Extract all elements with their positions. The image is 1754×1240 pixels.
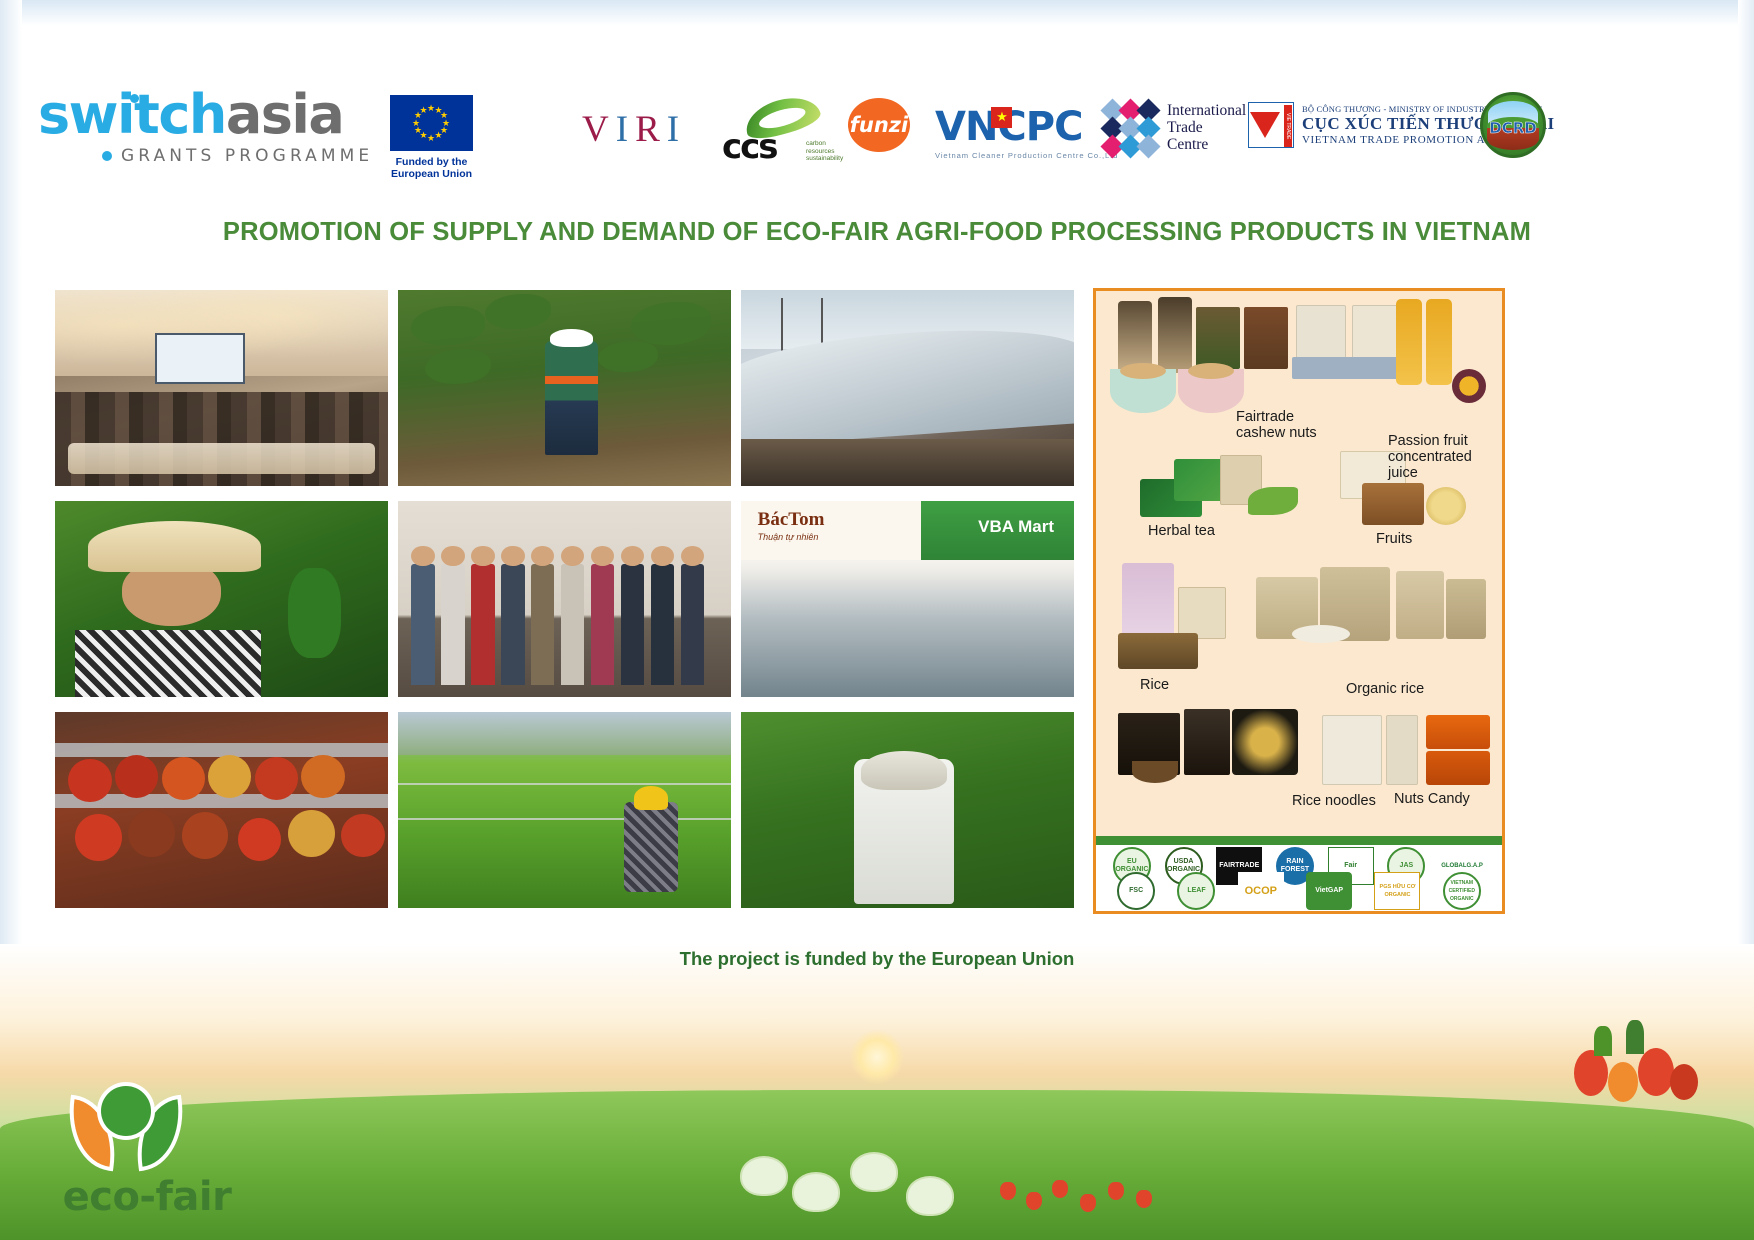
tomato-shape <box>75 814 122 861</box>
nuts-candy-pack <box>1322 715 1382 785</box>
label-nuts-candy: Nuts Candy <box>1394 791 1470 807</box>
label-line1: Organic rice <box>1346 681 1424 697</box>
delegate-head <box>621 546 644 567</box>
itc-line1: International <box>1167 102 1246 119</box>
store-tagline-text: Thuận tự nhiên <box>758 532 819 542</box>
photo-conference-hall <box>55 290 388 486</box>
strawberry-icon <box>1000 1182 1016 1200</box>
certification-row-1: EU ORGANIC USDA ORGANIC FAIRTRADE RAIN F… <box>1106 853 1492 878</box>
cashew-pack-image <box>1196 307 1240 369</box>
cert-ocop: OCOP <box>1238 872 1284 910</box>
noodle-bowl-image <box>1132 761 1178 783</box>
cabbage-icon <box>792 1172 840 1212</box>
tomato-shape <box>238 818 281 861</box>
eu-star-icon: ★ <box>420 106 428 115</box>
tomato-shape <box>208 755 251 798</box>
label-line1: Nuts Candy <box>1394 791 1470 807</box>
tomato-shape <box>341 814 384 857</box>
delegate-shape <box>591 564 614 686</box>
delegate-head <box>411 546 434 567</box>
store-glass-facade <box>741 560 1074 697</box>
leaf-shape <box>485 294 552 329</box>
conveyor-rail-shape <box>55 743 388 757</box>
sun-icon <box>850 1030 904 1084</box>
product-shelf-shadow <box>1292 357 1412 379</box>
delegate-shape <box>651 564 674 686</box>
tomato-shape <box>68 759 111 802</box>
sun-hat-shape <box>861 751 948 790</box>
farmer-body-shape <box>75 630 261 697</box>
cabbage-icon <box>850 1152 898 1192</box>
viri-logo: VIRI <box>582 108 686 151</box>
product-showcase-panel: Fairtrade cashew nuts Passion fruit conc… <box>1093 288 1505 914</box>
vncpc-text-wrap: VNCPC ★ <box>935 104 1118 150</box>
tomato-shape <box>301 755 344 798</box>
cashew-jar-image <box>1158 297 1192 373</box>
photo-tomato-crate <box>55 712 388 908</box>
rice-pack-image <box>1178 587 1226 639</box>
label-line1: Rice <box>1140 677 1169 693</box>
switchasia-word-c: asia <box>226 83 344 146</box>
label-line1: Herbal tea <box>1148 523 1215 539</box>
passion-juice-bottle <box>1396 299 1422 385</box>
label-line1: Rice noodles <box>1292 793 1376 809</box>
eu-caption-line1: Funded by the <box>390 156 473 168</box>
tomato-icon <box>1574 1050 1608 1096</box>
eu-caption: Funded by the European Union <box>390 156 473 180</box>
itc-diamond-cell <box>1136 134 1160 158</box>
rice-field-sky-shape <box>398 712 731 755</box>
strawberry-icon <box>1108 1182 1124 1200</box>
white-helmet-shape <box>550 329 593 347</box>
tomato-icon <box>1638 1048 1674 1096</box>
switchasia-subtitle: GRANTS PROGRAMME <box>121 146 373 166</box>
dcrd-text: DCRD <box>1483 119 1543 137</box>
viri-letter-2: I <box>616 109 635 150</box>
delegate-shape <box>411 564 434 686</box>
label-passion-fruit-juice: Passion fruit concentrated juice <box>1388 433 1502 481</box>
photo-cucumber-greenhouse <box>741 712 1074 908</box>
dcrd-logo: DCRD <box>1480 92 1546 158</box>
cashew-nuts-heap <box>1120 363 1166 379</box>
funzi-text: funzi <box>850 113 908 137</box>
funzi-logo: funzi <box>848 98 910 152</box>
eu-funding-logo: ★★★★★★★★★★★★ Funded by the European Unio… <box>390 95 473 180</box>
delegate-shape <box>441 564 464 686</box>
delegate-shape <box>621 564 644 686</box>
hb-candy-box <box>1426 715 1490 749</box>
label-organic-rice: Organic rice <box>1346 681 1424 697</box>
measuring-line-shape <box>398 818 731 820</box>
tomato-shape <box>255 757 298 800</box>
label-line2: cashew nuts <box>1236 425 1317 441</box>
vietnam-flag-icon: ★ <box>991 107 1012 128</box>
cashew-nuts-heap <box>1188 363 1234 379</box>
delegate-head <box>471 546 494 567</box>
eu-star-icon: ★ <box>427 134 435 143</box>
orchard-worker-stripe <box>545 376 598 384</box>
panel-divider <box>1096 836 1502 845</box>
conference-tables-shape <box>68 443 374 474</box>
delegate-shape <box>561 564 584 686</box>
delegate-head <box>561 546 584 567</box>
photo-bactom-store: BácTom Thuận tự nhiên VBA Mart <box>741 501 1074 697</box>
switchasia-subtitle-row: GRANTS PROGRAMME <box>102 146 373 166</box>
store-brand-text: BácTom <box>758 509 825 531</box>
tomato-shape <box>288 810 335 857</box>
nuts-candy-pack <box>1386 715 1418 785</box>
passion-fruit-image <box>1452 369 1486 403</box>
vncpc-logo: VNCPC ★ Vietnam Cleaner Production Centr… <box>935 104 1118 160</box>
eco-fair-mark-icon <box>70 1086 182 1172</box>
label-herbal-tea: Herbal tea <box>1148 523 1215 539</box>
yellow-hard-hat-shape <box>634 786 667 810</box>
delegate-shape <box>531 564 554 686</box>
cashew-pack-image <box>1244 307 1288 369</box>
funding-statement: The project is funded by the European Un… <box>0 948 1754 970</box>
measuring-line-shape <box>398 783 731 785</box>
leaf-icon <box>1626 1020 1644 1054</box>
rice-paper-badge <box>1232 709 1298 775</box>
cert-vietnam-certified-organic: VIETNAM CERTIFIED ORGANIC <box>1443 872 1481 910</box>
switchasia-logo: switchasia GRANTS PROGRAMME <box>38 88 373 166</box>
itc-line3: Centre <box>1167 136 1246 153</box>
melon-image <box>1426 487 1466 525</box>
leaf-shape <box>598 341 658 372</box>
eu-star-icon: ★ <box>435 131 443 140</box>
leaf-icon <box>1594 1026 1612 1056</box>
eco-fair-circle <box>101 1086 151 1136</box>
eco-fair-wordmark: eco-fair <box>52 1174 242 1220</box>
delegate-head <box>591 546 614 567</box>
eu-caption-line2: European Union <box>390 168 473 180</box>
cabbage-icon <box>740 1156 788 1196</box>
bitter-gourd-image <box>1248 487 1298 515</box>
tomato-shape <box>115 755 158 798</box>
fruits-carton-image <box>1362 483 1424 525</box>
leaf-shape <box>411 306 484 345</box>
ccs-logo: ccs carbonresourcessustainability <box>722 100 820 167</box>
delegate-head <box>531 546 554 567</box>
label-line2: concentrated juice <box>1388 449 1502 481</box>
photo-grid: BácTom Thuận tự nhiên VBA Mart <box>55 290 1075 908</box>
top-gradient <box>0 0 1754 26</box>
cert-pgs-huu-co: PGS HỮU CƠ ORGANIC <box>1374 872 1420 910</box>
photo-farmer-woman <box>55 501 388 697</box>
switchasia-sub-dot-icon <box>102 151 112 161</box>
orchard-worker-shape <box>545 341 598 455</box>
passion-juice-bottle <box>1426 299 1452 385</box>
page-title: PROMOTION OF SUPPLY AND DEMAND OF ECO-FA… <box>0 218 1754 247</box>
vietrade-v-shape <box>1250 112 1280 138</box>
cert-green-leaf: LEAF <box>1177 872 1215 910</box>
eu-flag-icon: ★★★★★★★★★★★★ <box>390 95 473 151</box>
vba-mart-text: VBA Mart <box>978 517 1054 537</box>
photo-cashew-orchard <box>398 290 731 486</box>
organic-rice-bag <box>1396 571 1444 639</box>
international-trade-centre-logo: International Trade Centre <box>1100 98 1246 156</box>
footer-band: eco-fair <box>0 944 1754 1240</box>
vncpc-subtitle: Vietnam Cleaner Production Centre Co.,Lt… <box>935 151 1118 160</box>
photo-delegation-group <box>398 501 731 697</box>
vegetables-illustration <box>1564 1010 1724 1130</box>
tomato-shape <box>128 810 175 857</box>
strawberry-icon <box>1052 1180 1068 1198</box>
organic-rice-bag <box>1446 579 1486 639</box>
cert-forest: FSC <box>1117 872 1155 910</box>
cert-vietgap: VietGAP <box>1306 872 1352 910</box>
rice-worker-shape <box>624 802 677 892</box>
label-rice: Rice <box>1140 677 1169 693</box>
rice-sack-image <box>1118 633 1198 669</box>
leaf-shape <box>425 349 492 384</box>
ccs-tagline: carbonresourcessustainability <box>806 140 854 163</box>
certification-logos-area: EU ORGANIC USDA ORGANIC FAIRTRADE RAIN F… <box>1096 845 1502 911</box>
pepper-icon <box>1670 1064 1698 1100</box>
delegate-shape <box>471 564 494 686</box>
itc-line2: Trade <box>1167 119 1246 136</box>
switchasia-dot-icon <box>130 94 139 103</box>
switchasia-word-b: itch <box>117 83 226 146</box>
label-fairtrade-cashew-nuts: Fairtrade cashew nuts <box>1236 409 1317 441</box>
leaf-shape <box>631 302 711 345</box>
delegate-head <box>651 546 674 567</box>
vietrade-badge: VIE TRADE <box>1284 105 1292 147</box>
label-line1: Fruits <box>1376 531 1412 547</box>
hb-candy-box <box>1426 751 1490 785</box>
carrot-icon <box>1608 1062 1638 1102</box>
viri-letter-4: I <box>667 109 686 150</box>
delegate-head <box>681 546 704 567</box>
conical-hat-shape <box>88 521 261 572</box>
label-line1: Fairtrade <box>1236 409 1317 425</box>
bitter-gourd-shape <box>288 568 341 658</box>
delegate-head <box>501 546 524 567</box>
strawberry-icon <box>1080 1194 1096 1212</box>
delegate-shape <box>501 564 524 686</box>
crops-illustration <box>700 1136 1320 1226</box>
eco-fair-logo: eco-fair <box>52 1086 242 1220</box>
label-rice-noodles: Rice noodles <box>1292 793 1376 809</box>
label-fruits: Fruits <box>1376 531 1412 547</box>
itc-text: International Trade Centre <box>1167 102 1246 153</box>
delegate-shape <box>681 564 704 686</box>
photo-greenhouse <box>741 290 1074 486</box>
cabbage-icon <box>906 1176 954 1216</box>
rice-pack-purple <box>1122 563 1174 637</box>
strawberry-icon <box>1026 1192 1042 1210</box>
tomato-shape <box>162 757 205 800</box>
viri-letter-1: V <box>582 109 616 150</box>
product-images-area: Fairtrade cashew nuts Passion fruit conc… <box>1096 291 1502 911</box>
itc-diamond-icon <box>1100 98 1158 156</box>
strawberry-icon <box>1136 1190 1152 1208</box>
delegate-head <box>441 546 464 567</box>
viri-letter-3: R <box>635 109 667 150</box>
photo-rice-field <box>398 712 731 908</box>
switchasia-word-a: sw <box>38 83 117 146</box>
rice-noodles-pack <box>1184 709 1230 775</box>
vietrade-mark-icon: VIE TRADE <box>1248 102 1294 148</box>
rice-grain-heap <box>1292 625 1350 643</box>
greenhouse-ground-shape <box>741 439 1074 486</box>
label-line1: Passion fruit <box>1388 433 1502 449</box>
tomato-shape <box>182 812 229 859</box>
